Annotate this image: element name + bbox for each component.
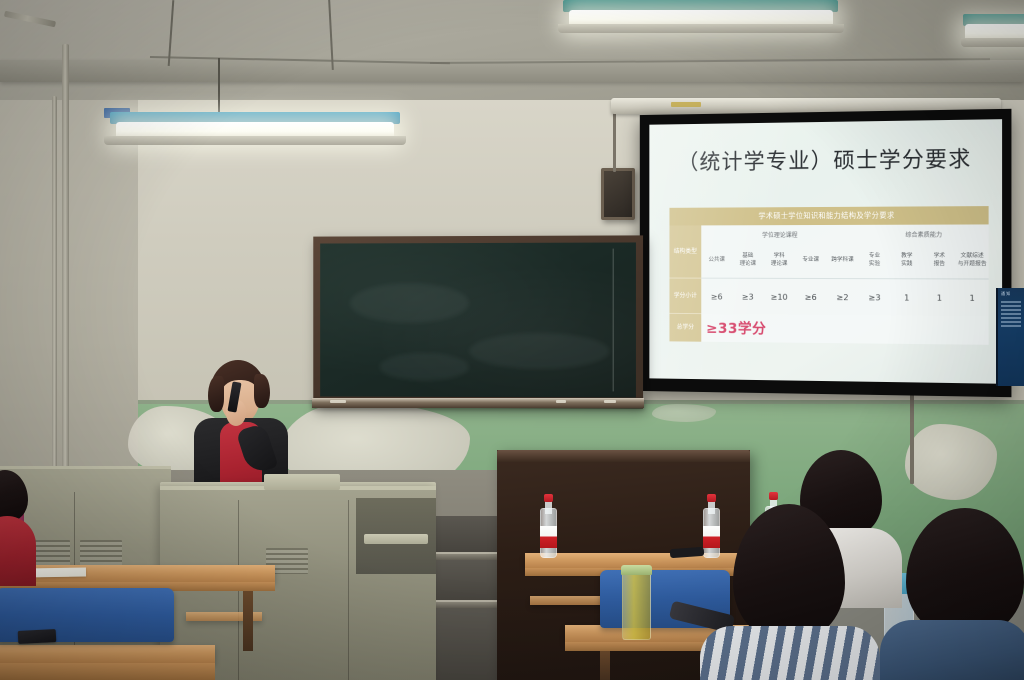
light-shade-left [104,136,406,145]
bottle-label [540,526,557,548]
col-header-4: 跨学科课 [827,257,859,264]
bottle-neck [545,500,552,514]
water-bottle-1 [540,494,557,558]
chalkboard [313,235,643,408]
chalk-ledge [312,398,644,408]
col-header-1: 基础理论课 [732,253,763,267]
ceiling-beam [0,60,1024,82]
paper-cup-2 [543,446,564,463]
bottle-cap [769,492,779,500]
col-header-3: 专业课 [795,257,827,264]
chalkboard-surface [320,242,636,397]
notice-line [1001,305,1021,307]
phone-on-desk[interactable] [18,629,57,644]
row-label-structure: 结构类型 [669,225,701,278]
notice-line [1001,313,1021,315]
value-4: ≥2 [827,292,859,302]
table-group-header-row: 学位理论课程 综合素质能力 [701,224,988,243]
notice-line [1001,325,1021,327]
bottle-cap [544,494,554,502]
light-shade-right [961,38,1024,47]
notice-board-title: 通 知 [998,288,1024,299]
notice-line [1001,321,1021,323]
col-header-8: 文献综述与开题报告 [956,253,989,268]
student-torso-right [880,620,1024,680]
table-total-row: ≥33学分 [701,314,988,345]
roller-tab [671,102,701,107]
table-caption: 学术硕士学位知识和能力结构及学分要求 [669,206,988,225]
notice-line [1001,309,1021,311]
light-shade-top [558,24,844,33]
col-header-6: 教学实践 [891,253,923,268]
bottle-neck [708,500,715,514]
total-credits-text: ≥33学分 [706,318,766,338]
table-columns: 学位理论课程 综合素质能力 公共课 基础理论课 学科理论课 专业课 跨学科课 专… [701,224,988,344]
slide-title: （统计学专业）硕士学分要求 [649,142,1002,177]
student-desk-shelf-right [530,596,608,605]
value-8: 1 [956,293,989,303]
table-body: 结构类型 学分小计 总学分 学位理论课程 综合素质能力 公共课 基础理论课 学科… [669,224,988,344]
wall-cable-vertical [613,110,616,172]
desk-leg-right [600,651,610,680]
notice-line [1001,301,1021,303]
student-desk-edge-left-front [0,663,215,680]
row-label-total: 总学分 [669,314,701,342]
lectern-box [264,474,340,490]
col-header-7: 学术报告 [923,253,956,268]
value-5: ≥3 [858,292,890,302]
slide-table: 学术硕士学位知识和能力结构及学分要求 结构类型 学分小计 总学分 学位理论课程 … [669,206,988,345]
yellow-tea-thermos [622,572,651,640]
value-0: ≥6 [701,291,732,301]
presenter-hair-side [208,376,224,412]
group-header-theory: 学位理论课程 [701,229,859,238]
col-header-5: 专业实验 [858,253,890,268]
bottle-label [703,526,720,548]
wall-cable-screen [910,392,914,484]
student-torso-center [700,626,880,680]
projector-screen: （统计学专业）硕士学分要求 学术硕士学位知识和能力结构及学分要求 结构类型 学分… [640,109,1012,397]
notice-line [1001,317,1021,319]
desk-leg-left [243,591,253,651]
notice-board: 通 知 [996,288,1024,386]
wall-left-panel [0,100,138,500]
value-6: 1 [891,292,923,302]
group-header-ability: 综合素质能力 [860,229,989,238]
light-cord-left [218,58,220,114]
chalk-smear [350,283,469,323]
chalk-piece [556,400,566,403]
chalkboard-divider [613,249,614,392]
desk-drawer-front [364,534,428,544]
chalk-smear [469,333,610,369]
yellow-thermos-cap [621,565,652,575]
classroom-scene: （统计学专业）硕士学分要求 学术硕士学位知识和能力结构及学分要求 结构类型 学分… [0,0,1024,680]
projected-slide: （统计学专业）硕士学分要求 学术硕士学位知识和能力结构及学分要求 结构类型 学分… [649,119,1002,384]
student-desk-left-front [0,645,215,663]
water-bottle-2 [703,494,720,558]
row-label-subtotal: 学分小计 [669,279,701,315]
value-7: 1 [923,292,956,302]
value-1: ≥3 [732,292,763,302]
value-2: ≥10 [763,292,794,302]
wall-speaker-box [601,168,635,220]
table-header-row: 公共课 基础理论课 学科理论课 专业课 跨学科课 专业实验 教学实践 学术报告 … [701,243,988,280]
chalk-smear [379,353,469,381]
presenter-hair-side [254,374,270,408]
table-value-row: ≥6 ≥3 ≥10 ≥6 ≥2 ≥3 1 1 1 [701,279,988,317]
col-header-0: 公共课 [701,257,732,264]
col-header-2: 学科理论课 [763,253,794,267]
table-row-labels: 结构类型 学分小计 总学分 [669,225,701,341]
cabinet-vent [80,540,122,566]
bottle-cap [707,494,717,502]
cabinet-seam [348,500,349,680]
paper-cup-1 [518,446,539,463]
chalk-piece [604,400,616,403]
chalk-piece [330,400,346,403]
value-3: ≥6 [795,292,827,302]
